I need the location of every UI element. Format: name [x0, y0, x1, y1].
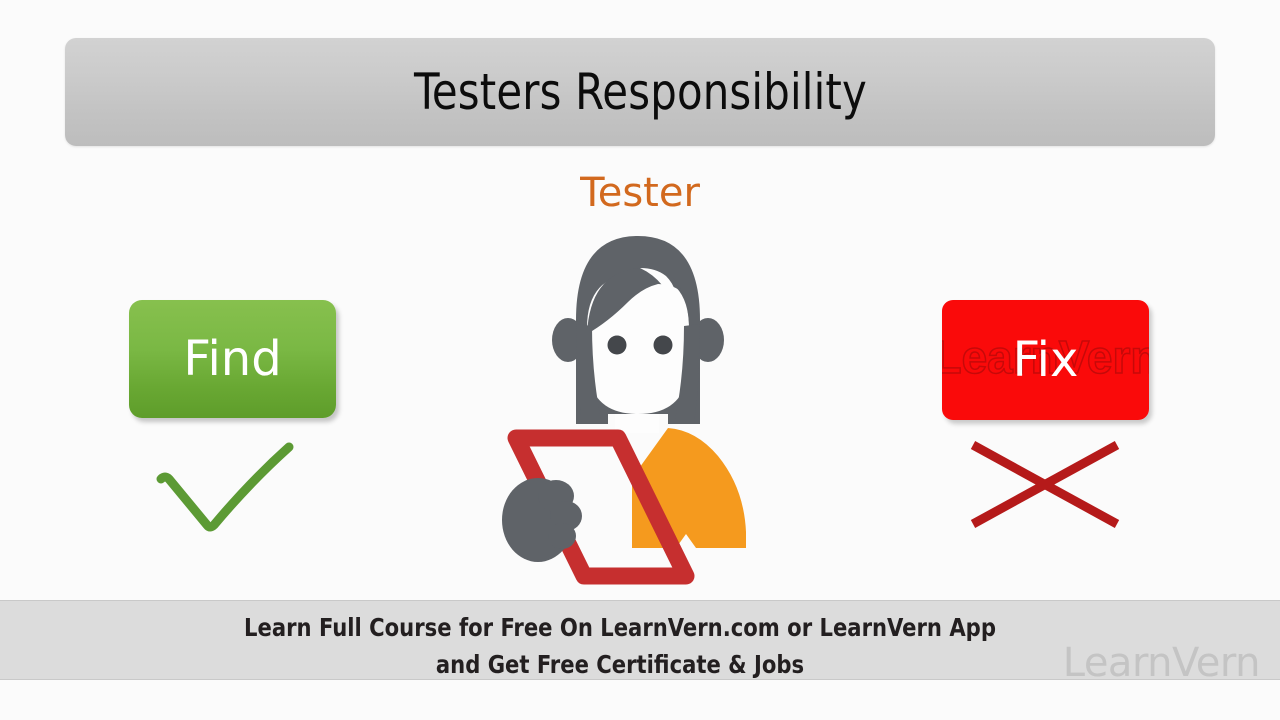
learnvern-logo: LearnVern	[1063, 640, 1260, 686]
tester-label: Tester	[0, 170, 1280, 216]
footer-line-2: and Get Free Certificate & Jobs	[37, 646, 1203, 683]
footer-line-1: Learn Full Course for Free On LearnVern.…	[37, 609, 1203, 646]
fix-button[interactable]: LearnVern Fix	[942, 300, 1149, 420]
eye-right	[654, 336, 673, 355]
page-title: Testers Responsibility	[414, 67, 867, 117]
footer-promo-text: Learn Full Course for Free On LearnVern.…	[37, 609, 1203, 683]
eye-left	[608, 336, 627, 355]
cross-mark-icon	[965, 437, 1125, 537]
tester-illustration	[490, 228, 780, 593]
find-button-label: Find	[183, 331, 281, 387]
check-mark-icon	[155, 437, 300, 537]
fix-button-label: Fix	[1013, 332, 1079, 388]
slide-canvas: Testers Responsibility Tester Find Learn…	[0, 0, 1280, 720]
find-button[interactable]: Find	[129, 300, 336, 418]
title-bar: Testers Responsibility	[65, 38, 1215, 146]
